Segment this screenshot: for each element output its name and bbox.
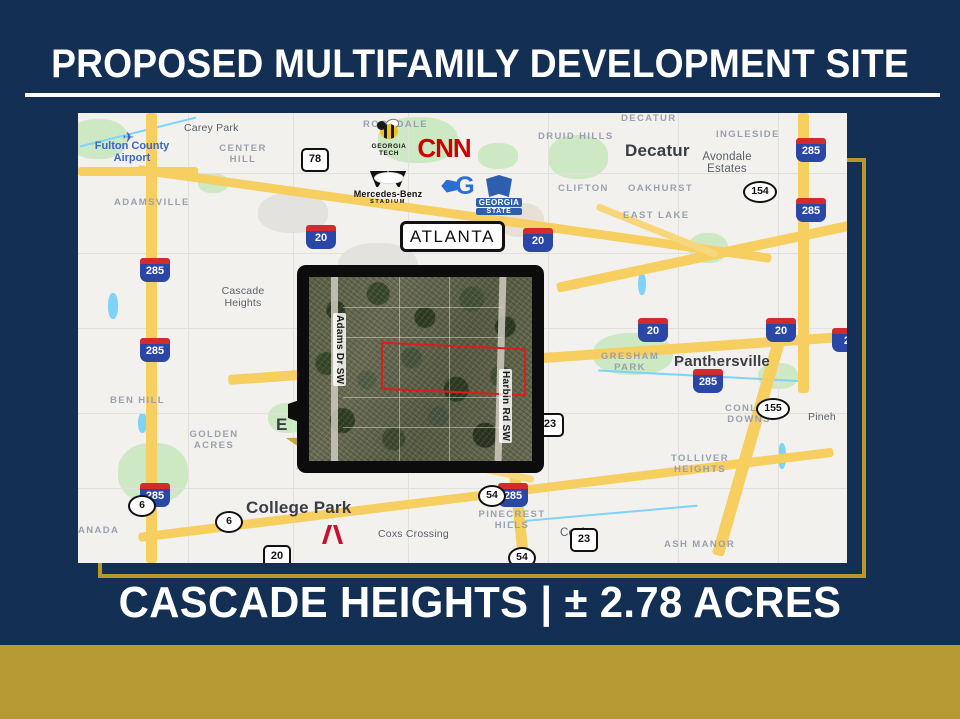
map-label-anada: ANADA [78,525,119,536]
map-label-avondale-estates: Avondale Estates [694,151,760,175]
page-title: PROPOSED MULTIFAMILY DEVELOPMENT SITE [0,44,960,84]
shield-sr154: 154 [743,181,777,203]
poi-cnn-logo: CNN [414,133,474,164]
aerial-photo: Adams Dr SW Harbin Rd SW [309,277,532,461]
map-water [638,273,646,295]
map-label-golden-acres: GOLDEN ACRES [176,429,252,451]
map-label-carey-park: Carey Park [184,122,239,134]
map-label-clifton: CLIFTON [558,183,609,194]
map-label-adamsville: ADAMSVILLE [114,197,190,208]
footer-caption: CASCADE HEIGHTS | ± 2.78 ACRES [0,578,960,628]
page-title-text: PROPOSED MULTIFAMILY DEVELOPMENT SITE [34,44,927,84]
aerial-inset[interactable]: Adams Dr SW Harbin Rd SW [297,265,544,473]
fish-icon [441,180,457,193]
aerial-lot-line [343,337,503,338]
map-label-oakhurst: OAKHURST [628,183,693,194]
shield-i20: 20 [523,228,553,252]
map-greenspace [478,143,518,169]
title-underline [25,93,940,97]
aerial-lot-line [343,307,503,308]
shield-us23: 23 [570,528,598,552]
map-label-pinehurst: Pineh [808,411,836,423]
map-street [678,113,679,563]
mercedes-star-icon [368,171,408,189]
map-water [108,293,118,319]
map-canvas: ROCKDALE CENTER HILL ADAMSVILLE DRUID HI… [78,113,847,563]
poi-mercedes-benz-stadium-logo: Mercedes-Benz STADIUM [342,171,434,205]
aerial-label-harbin-rd-sw: Harbin Rd SW [499,369,512,443]
aerial-lot-line [343,427,503,428]
map-label-pinecrest-hills: PINECREST HILLS [470,509,554,531]
map-street [293,113,294,563]
map-label-ben-hill: BEN HILL [110,395,165,406]
yellowjacket-icon [376,119,402,143]
shield-us78: 78 [301,148,329,172]
poi-georgia-tech-logo: GEORGIA TECH [364,119,414,157]
shield-sr6: 6 [215,511,243,533]
map-label-panthersville: Panthersville [674,353,770,370]
shield-i285: 285 [140,258,170,282]
regional-map[interactable]: ROCKDALE CENTER HILL ADAMSVILLE DRUID HI… [78,113,847,563]
map-label-coxs-crossing: Coxs Crossing [378,528,449,540]
map-label-decatur-area: DECATUR [621,113,677,124]
map-label-cascade-heights: Cascade Heights [212,285,274,309]
airplane-icon: ✈ [122,131,135,144]
map-label-decatur-city: Decatur [625,141,690,161]
map-label-gresham-park: GRESHAM PARK [594,351,666,373]
map-label-druid-hills: DRUID HILLS [538,131,614,142]
shield-us20: 20 [263,545,291,563]
shield-i20: 2 [832,328,847,352]
bottom-gold-band [0,645,960,719]
map-label-east-lake: EAST LAKE [623,210,689,221]
shield-i285: 285 [796,138,826,162]
shield-sr54: 54 [478,485,506,507]
map-label-college-park: College Park [246,498,351,518]
slide-root: PROPOSED MULTIFAMILY DEVELOPMENT SITE [0,0,960,719]
shield-sr54: 54 [508,547,536,563]
shield-i20: 20 [638,318,668,342]
shield-i285: 285 [693,369,723,393]
map-label-ingleside: INGLESIDE [716,129,780,140]
map-street [548,113,549,563]
map-label-tolliver-heights: TOLLIVER HEIGHTS [658,453,742,475]
shield-i285: 285 [140,338,170,362]
panther-crest-icon: GEORGIA STATE [476,175,522,215]
map-label-atlanta-pill: ATLANTA [400,221,505,252]
map-label-center-hill: CENTER HILL [208,143,278,165]
poi-delta-airlines-logo [322,525,348,545]
shield-i285: 285 [796,198,826,222]
map-label-ash-manor: ASH MANOR [664,539,735,550]
footer-caption-text: CASCADE HEIGHTS | ± 2.78 ACRES [24,578,936,628]
aerial-label-adams-dr-sw: Adams Dr SW [333,313,346,386]
shield-sr6: 6 [128,495,156,517]
poi-georgia-state-logo: GEORGIA STATE [470,175,528,215]
aerial-lot-line [343,397,503,398]
shield-i20: 20 [306,225,336,249]
shield-i20: 20 [766,318,796,342]
shield-sr155: 155 [756,398,790,420]
